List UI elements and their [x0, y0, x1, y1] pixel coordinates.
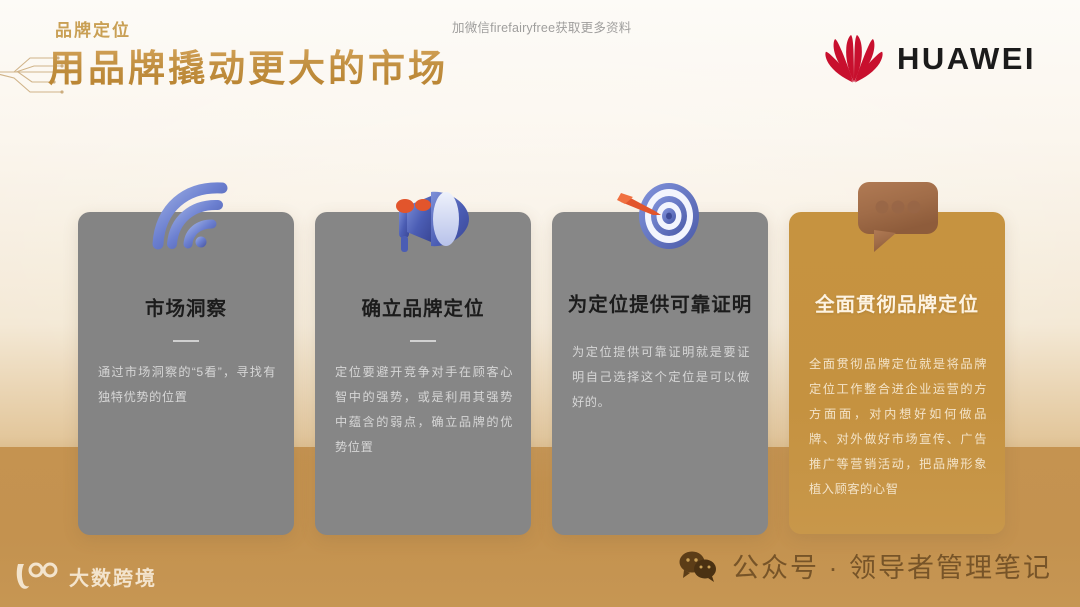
card-title: 全面贯彻品牌定位 — [803, 292, 991, 319]
card-title: 为定位提供可靠证明 — [566, 292, 754, 319]
card-body: 为定位提供可靠证明就是要证明自己选择这个定位是可以做好的。 — [572, 340, 750, 415]
card-title: 市场洞察 — [92, 296, 280, 323]
card-implement-brand[interactable]: 全面贯彻品牌定位 全面贯彻品牌定位就是将品牌定位工作整合进企业运营的方方面面，对… — [789, 212, 1005, 534]
bottom-watermark: 公众号 · 领导者管理笔记 — [678, 546, 1052, 585]
wechat-icon — [678, 550, 718, 582]
card-divider — [173, 340, 199, 342]
card-body: 定位要避开竞争对手在顾客心智中的强势，或是利用其强势中蕴含的弱点，确立品牌的优势… — [335, 360, 513, 460]
card-body: 全面贯彻品牌定位就是将品牌定位工作整合进企业运营的方方面面，对内想好如何做品牌、… — [809, 352, 987, 502]
target-dart-icon — [615, 182, 707, 256]
speech-bubble-icon — [852, 178, 944, 254]
card-divider — [410, 340, 436, 342]
card-row: 市场洞察 通过市场洞察的“5看”，寻找有独特优势的位置 确立品牌定位 定位要避开… — [0, 0, 1080, 607]
bottom-left-brand: 大数跨境 — [12, 561, 157, 591]
card-body: 通过市场洞察的“5看”，寻找有独特优势的位置 — [98, 360, 276, 410]
bottom-watermark-label: 公众号 · 领导者管理笔记 — [732, 546, 1052, 585]
wifi-signal-icon — [148, 182, 232, 252]
bottom-left-brand-label: 大数跨境 — [69, 562, 157, 591]
dashu-logo-icon — [12, 561, 60, 591]
card-market-insight[interactable]: 市场洞察 通过市场洞察的“5看”，寻找有独特优势的位置 — [78, 212, 294, 535]
megaphone-icon — [385, 180, 477, 256]
card-establish-positioning[interactable]: 确立品牌定位 定位要避开竞争对手在顾客心智中的强势，或是利用其强势中蕴含的弱点，… — [315, 212, 531, 535]
card-provide-proof[interactable]: 为定位提供可靠证明 为定位提供可靠证明就是要证明自己选择这个定位是可以做好的。 — [552, 212, 768, 535]
card-title: 确立品牌定位 — [329, 296, 517, 323]
